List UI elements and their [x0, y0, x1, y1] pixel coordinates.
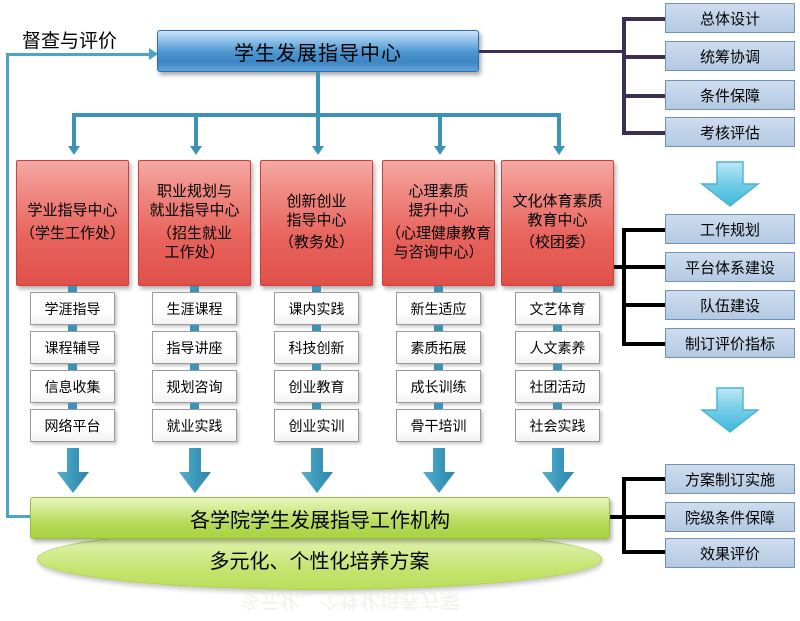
leaf-label: 信息收集: [45, 377, 101, 397]
side-box-top-1[interactable]: 统筹协调: [665, 41, 795, 71]
center-box-4[interactable]: 文化体育素质教育中心 （校团委）: [501, 160, 614, 286]
side-box-label: 院级条件保障: [685, 507, 775, 528]
side-box-label: 统筹协调: [700, 46, 760, 67]
leaf-label: 成长训练: [411, 377, 467, 397]
middle-brace-arm-3: [622, 342, 667, 346]
leaf-label: 就业实践: [167, 416, 223, 436]
bottom-brace-arm-0: [622, 477, 667, 481]
side-box-label: 考核评估: [700, 122, 760, 143]
middle-brace-arm-0: [622, 228, 667, 232]
college-org-bar[interactable]: 各学院学生发展指导工作机构: [30, 497, 610, 539]
leaf-1-3[interactable]: 就业实践: [152, 409, 237, 442]
fanout-arrowhead-0: [68, 146, 80, 155]
top-brace-vertical: [622, 17, 626, 135]
leaf-label: 生涯课程: [167, 299, 223, 319]
fanout-drop-2: [316, 113, 320, 146]
fanout-arrowhead-1: [190, 146, 202, 155]
leaf-2-0[interactable]: 课内实践: [274, 292, 359, 325]
fanout-arrowhead-3: [434, 146, 446, 155]
leaf-3-3[interactable]: 骨干培训: [396, 409, 481, 442]
middle-brace-arm-1: [622, 265, 667, 269]
leaf-label: 网络平台: [45, 416, 101, 436]
leaf-4-1[interactable]: 人文素养: [515, 331, 600, 364]
side-box-label: 方案制订实施: [685, 469, 775, 490]
leaf-2-2[interactable]: 创业教育: [274, 370, 359, 403]
big-arrow-middle-to-bottom: [699, 386, 761, 434]
center-name: 职业规划与就业指导中心: [149, 183, 239, 221]
training-plan-text: 多元化、个性化培养方案: [210, 545, 430, 574]
college-org-text: 各学院学生发展指导工作机构: [190, 504, 450, 533]
side-box-top-3[interactable]: 考核评估: [665, 117, 795, 147]
leaf-label: 学涯指导: [45, 299, 101, 319]
leaf-label: 课程辅导: [45, 338, 101, 358]
center-box-0[interactable]: 学业指导中心 （学生工作处）: [16, 160, 129, 286]
middle-brace-arm-2: [622, 303, 667, 307]
fat-arrow-4: [541, 448, 575, 494]
leaf-label: 骨干培训: [411, 416, 467, 436]
center-name: 文化体育素质教育中心: [512, 193, 602, 231]
leaf-label: 人文素养: [530, 338, 586, 358]
leaf-label: 社团活动: [530, 377, 586, 397]
bottom-brace-arm-2: [622, 550, 667, 554]
leaf-0-0[interactable]: 学涯指导: [30, 292, 115, 325]
title-to-top-group-link: [479, 50, 624, 53]
leaf-1-1[interactable]: 指导讲座: [152, 331, 237, 364]
feedback-loop-top: [6, 53, 151, 56]
fat-arrow-1: [178, 448, 212, 494]
center-name: 学业指导中心: [27, 202, 117, 221]
center-dept: （教务处）: [279, 234, 354, 253]
center-dept: （心理健康教育与咨询中心）: [386, 225, 491, 263]
center-dept: （校团委）: [520, 234, 595, 253]
top-brace-arm-2: [622, 94, 667, 98]
side-box-top-2[interactable]: 条件保障: [665, 80, 795, 110]
leaf-2-3[interactable]: 创业实训: [274, 409, 359, 442]
leaf-3-2[interactable]: 成长训练: [396, 370, 481, 403]
leaf-3-1[interactable]: 素质拓展: [396, 331, 481, 364]
center-dept: （学生工作处）: [20, 225, 125, 244]
side-box-bot-0[interactable]: 方案制订实施: [665, 464, 795, 494]
diagram-canvas: 督查与评价 学生发展指导中心 总体设计 统筹协调 条件保障 考核评估 工作规划 …: [0, 0, 800, 621]
top-brace-arm-0: [622, 17, 667, 21]
main-title-box[interactable]: 学生发展指导中心: [157, 30, 479, 72]
side-box-top-0[interactable]: 总体设计: [665, 3, 795, 33]
leaf-0-1[interactable]: 课程辅导: [30, 331, 115, 364]
fat-arrow-2: [300, 448, 334, 494]
leaf-0-3[interactable]: 网络平台: [30, 409, 115, 442]
side-box-bot-2[interactable]: 效果评价: [665, 538, 795, 568]
leaf-label: 文艺体育: [530, 299, 586, 319]
leaf-label: 指导讲座: [167, 338, 223, 358]
center-name: 心理素质提升中心: [408, 183, 468, 221]
leaf-1-0[interactable]: 生涯课程: [152, 292, 237, 325]
big-arrow-top-to-middle: [699, 160, 761, 208]
leaf-3-0[interactable]: 新生适应: [396, 292, 481, 325]
side-box-mid-1[interactable]: 平台体系建设: [665, 252, 795, 282]
leaf-label: 社会实践: [530, 416, 586, 436]
side-box-mid-0[interactable]: 工作规划: [665, 214, 795, 244]
leaf-4-3[interactable]: 社会实践: [515, 409, 600, 442]
leaf-label: 素质拓展: [411, 338, 467, 358]
fanout-drop-1: [194, 113, 198, 146]
leaf-label: 规划咨询: [167, 377, 223, 397]
side-box-mid-2[interactable]: 队伍建设: [665, 290, 795, 320]
center-box-3[interactable]: 心理素质提升中心 （心理健康教育与咨询中心）: [382, 160, 495, 286]
leaf-4-0[interactable]: 文艺体育: [515, 292, 600, 325]
fat-arrow-0: [56, 448, 90, 494]
center-box-1[interactable]: 职业规划与就业指导中心 （招生就业工作处）: [138, 160, 251, 286]
leaf-0-2[interactable]: 信息收集: [30, 370, 115, 403]
fanout-stem: [316, 72, 320, 115]
leaf-label: 科技创新: [289, 338, 345, 358]
side-box-label: 工作规划: [700, 219, 760, 240]
leaf-4-2[interactable]: 社团活动: [515, 370, 600, 403]
main-title-text: 学生发展指导中心: [234, 37, 402, 66]
side-box-label: 效果评价: [700, 543, 760, 564]
side-box-label: 制订评价指标: [685, 333, 775, 354]
middle-brace-vertical: [622, 228, 626, 346]
fanout-drop-0: [72, 113, 76, 146]
bottom-brace-arm-1: [622, 515, 667, 519]
supervise-label: 督查与评价: [22, 26, 117, 53]
side-box-label: 条件保障: [700, 85, 760, 106]
center-box-2[interactable]: 创新创业指导中心 （教务处）: [260, 160, 373, 286]
leaf-2-1[interactable]: 科技创新: [274, 331, 359, 364]
top-brace-arm-1: [622, 55, 667, 59]
feedback-loop-vertical: [6, 53, 9, 518]
side-box-label: 平台体系建设: [685, 257, 775, 278]
fanout-drop-3: [438, 113, 442, 146]
leaf-label: 创业实训: [289, 416, 345, 436]
leaf-1-2[interactable]: 规划咨询: [152, 370, 237, 403]
leaf-label: 新生适应: [411, 299, 467, 319]
side-box-label: 总体设计: [700, 8, 760, 29]
leaf-label: 创业教育: [289, 377, 345, 397]
fanout-arrowhead-2: [312, 146, 324, 155]
center-name: 创新创业指导中心: [286, 193, 346, 231]
fanout-drop-4: [557, 113, 561, 146]
top-brace-arm-3: [622, 131, 667, 135]
leaf-label: 课内实践: [289, 299, 345, 319]
center-dept: （招生就业工作处）: [157, 225, 232, 263]
side-box-bot-1[interactable]: 院级条件保障: [665, 502, 795, 532]
ellipse-reflection: 多元化、个性化培养方案: [150, 588, 550, 618]
fat-arrow-3: [422, 448, 456, 494]
side-box-label: 队伍建设: [700, 295, 760, 316]
fanout-arrowhead-4: [553, 146, 565, 155]
side-box-mid-3[interactable]: 制订评价指标: [665, 328, 795, 358]
